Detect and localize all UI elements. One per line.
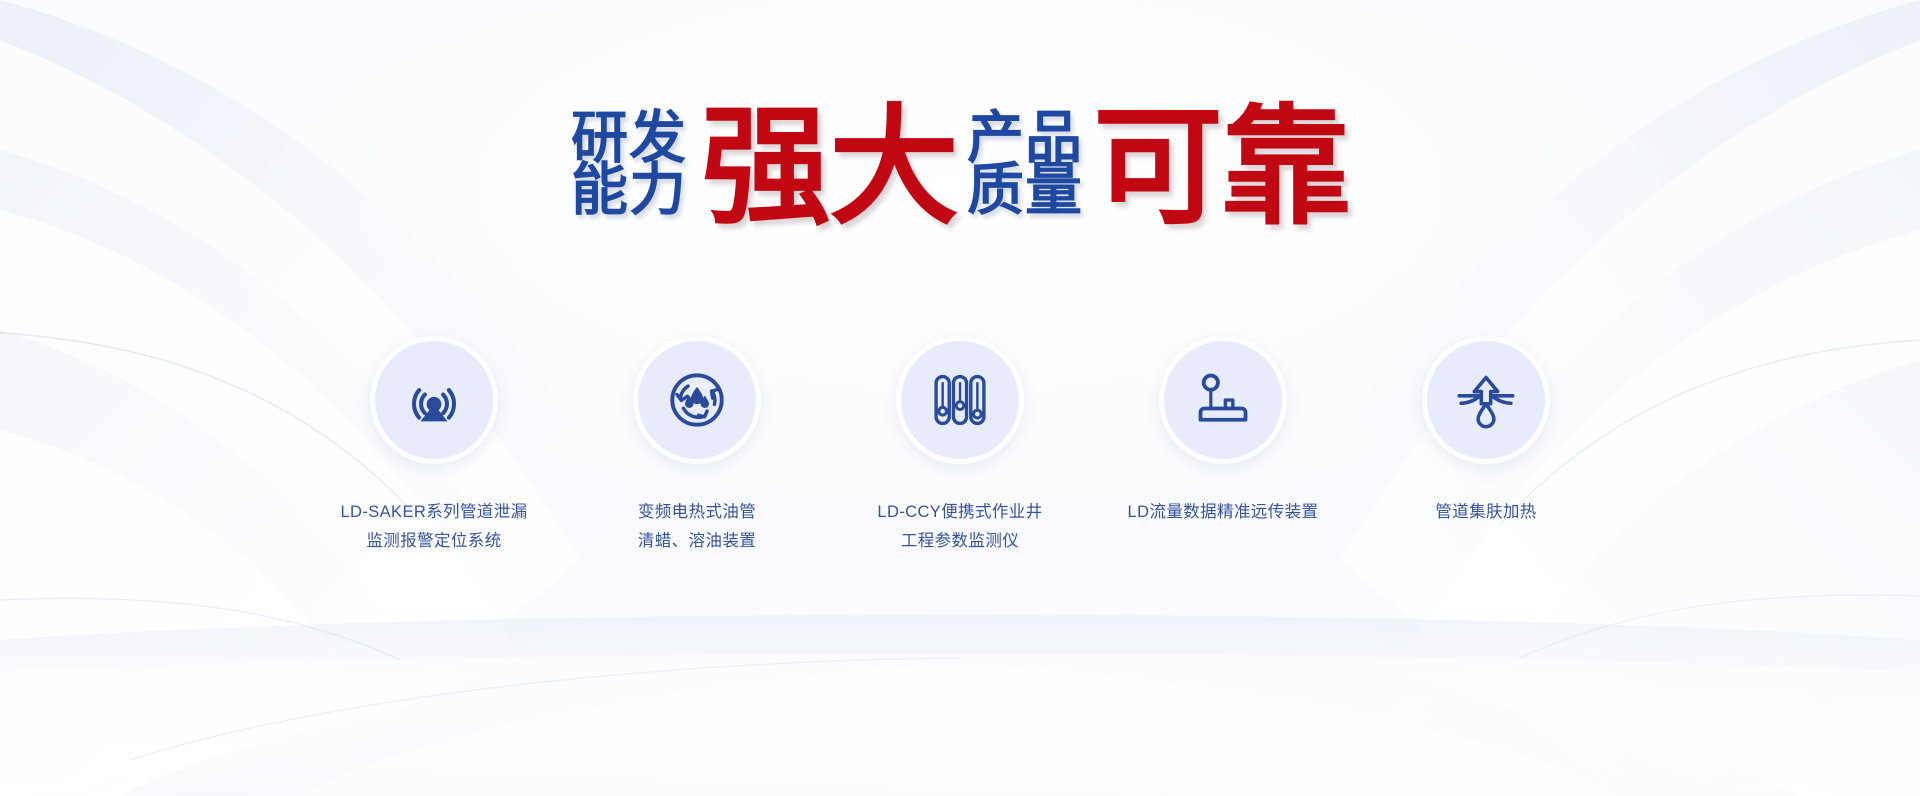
- headline-quality-line1: 产品: [967, 112, 1083, 164]
- product-card-row: LD-SAKER系列管道泄漏 监测报警定位系统: [0, 336, 1920, 557]
- arrow-up-droplet-heating-icon: [1456, 370, 1516, 430]
- headline-quality-line2: 质量: [967, 164, 1083, 216]
- product-icon-badge-1[interactable]: [370, 336, 498, 464]
- product-card-2[interactable]: 变频电热式油管 清蜡、溶油装置: [588, 336, 806, 557]
- product-card-5[interactable]: 管道集肤加热: [1377, 336, 1595, 527]
- product-icon-badge-4[interactable]: [1159, 336, 1287, 464]
- vertical-sliders-icon: [930, 370, 990, 430]
- broadcast-antenna-icon: [403, 369, 465, 431]
- product-caption-5: 管道集肤加热: [1435, 498, 1536, 527]
- product-icon-badge-2[interactable]: [633, 336, 761, 464]
- product-caption-4: LD流量数据精准远传装置: [1128, 498, 1319, 527]
- headline-group-rnd: 研发 能力: [571, 108, 687, 217]
- product-icon-badge-3[interactable]: [896, 336, 1024, 464]
- headline-group-quality: 产品 质量: [967, 108, 1083, 217]
- headline-rnd-line1: 研发: [571, 112, 687, 164]
- product-caption-3: LD-CCY便携式作业井 工程参数监测仪: [877, 498, 1042, 557]
- product-card-3[interactable]: LD-CCY便携式作业井 工程参数监测仪: [851, 336, 1069, 557]
- headline-rnd-line2: 能力: [571, 164, 687, 216]
- water-drops-recycle-icon: [666, 369, 728, 431]
- headline: 研发 能力 强大 产品 质量 可靠: [0, 108, 1920, 232]
- product-icon-badge-5[interactable]: [1422, 336, 1550, 464]
- product-card-1[interactable]: LD-SAKER系列管道泄漏 监测报警定位系统: [325, 336, 543, 557]
- joystick-control-icon: [1193, 370, 1253, 430]
- product-card-4[interactable]: LD流量数据精准远传装置: [1114, 336, 1332, 527]
- headline-emphasis-reliable: 可靠: [1093, 102, 1349, 232]
- banner-stage: 研发 能力 强大 产品 质量 可靠: [0, 0, 1920, 796]
- headline-emphasis-strong: 强大: [701, 102, 957, 232]
- product-caption-2: 变频电热式油管 清蜡、溶油装置: [638, 498, 756, 557]
- product-caption-1: LD-SAKER系列管道泄漏 监测报警定位系统: [340, 498, 527, 557]
